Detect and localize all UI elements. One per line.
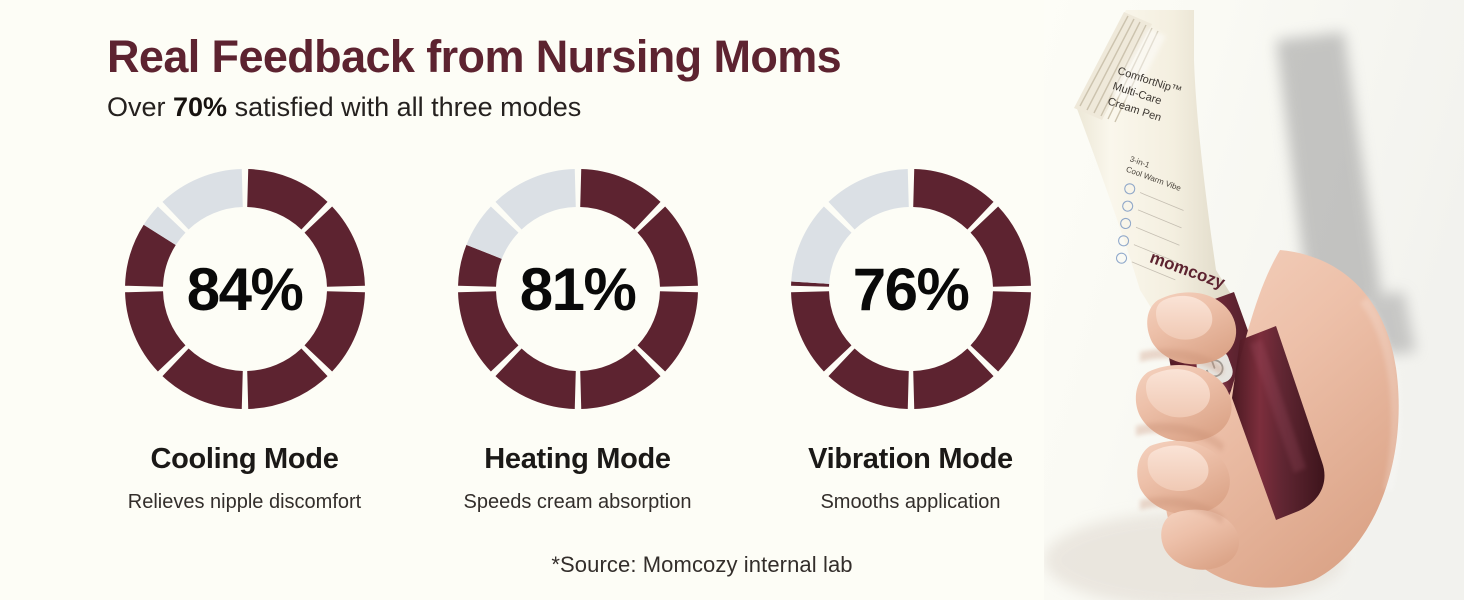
donut-chart-cooling: 84% <box>124 168 366 410</box>
subtitle-prefix: Over <box>107 92 173 122</box>
page-subtitle: Over 70% satisfied with all three modes <box>107 91 1027 123</box>
mode-description: Speeds cream absorption <box>464 490 692 514</box>
donut-value-label: 76% <box>790 168 1032 410</box>
infographic-canvas: Real Feedback from Nursing Moms Over 70%… <box>0 0 1464 600</box>
mode-description: Smooths application <box>820 490 1000 514</box>
product-photo-illustration: ComfortNip™ Multi-Care Cream Pen 3-in-1 … <box>1044 0 1464 600</box>
donut-value-label: 81% <box>457 168 699 410</box>
mode-description: Relieves nipple discomfort <box>128 490 361 514</box>
source-note-text: *Source: Momcozy internal lab <box>551 552 852 578</box>
mode-card: 81% Heating Mode Speeds cream absorption <box>411 168 744 514</box>
donut-chart-heating: 81% <box>457 168 699 410</box>
mode-card: 76% Vibration Mode Smooths application <box>744 168 1077 514</box>
product-photo: ComfortNip™ Multi-Care Cream Pen 3-in-1 … <box>1044 0 1464 600</box>
mode-card: 84% Cooling Mode Relieves nipple discomf… <box>78 168 411 514</box>
donut-value-label: 84% <box>124 168 366 410</box>
headline-block: Real Feedback from Nursing Moms Over 70%… <box>107 32 1027 124</box>
mode-title: Vibration Mode <box>808 444 1013 476</box>
subtitle-highlight: 70% <box>173 92 227 122</box>
mode-title: Heating Mode <box>484 444 671 476</box>
mode-stats-row: 84% Cooling Mode Relieves nipple discomf… <box>78 168 1078 514</box>
page-title: Real Feedback from Nursing Moms <box>107 32 1027 82</box>
mode-title: Cooling Mode <box>150 444 338 476</box>
subtitle-suffix: satisfied with all three modes <box>227 92 581 122</box>
donut-chart-vibration: 76% <box>790 168 1032 410</box>
